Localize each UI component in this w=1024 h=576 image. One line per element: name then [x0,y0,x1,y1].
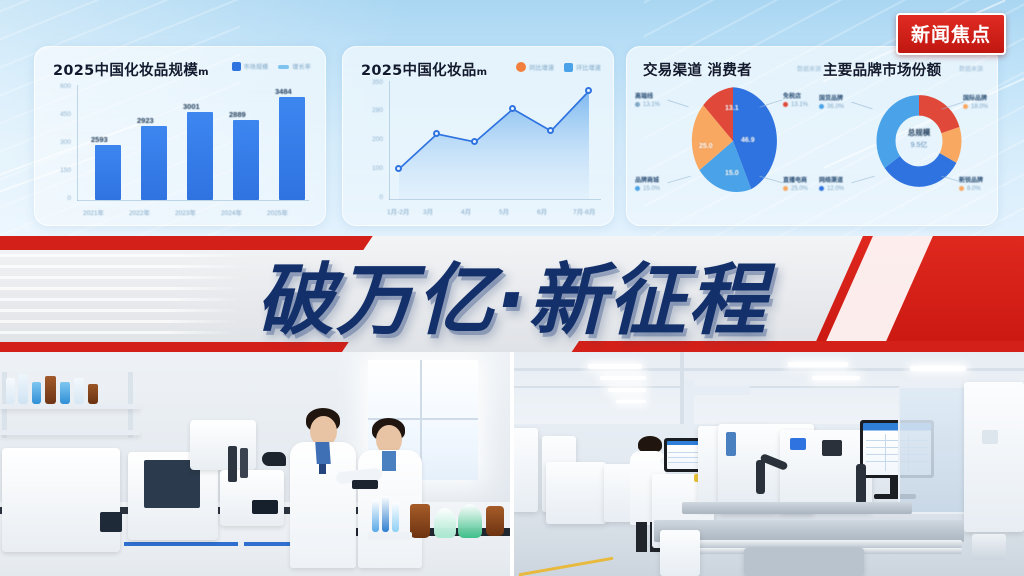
bar-2023 [187,112,213,200]
lab-bottle [45,376,56,404]
factory-bin [972,534,1006,560]
bar-chart-legend: 市场规模 增长率 [232,62,311,71]
lab-instrument-display [100,512,122,532]
conveyor-belt-upper [682,502,912,514]
donut-chart-title: 主要品牌市场份额 [823,59,941,80]
conveyor-roller-rail [664,540,962,548]
factory-photo [512,352,1024,576]
pie-chart-source-note: 数据来源 [797,64,821,73]
ceiling-light [600,376,646,380]
bar-xtick: 2022年 [129,207,150,217]
bar-chart-card: 2025中国化妆品规模m 市场规模 增长率 600 450 300 150 0 [34,46,326,226]
conveyor-belt [654,520,964,542]
line-ytick: 200 [355,136,383,143]
bar-ytick: 600 [45,83,71,90]
bar-2025 [279,97,305,200]
pie-slice-value: 13.1 [725,105,739,112]
conveyor-support [660,530,700,576]
line-yaxis-line [389,81,390,200]
line-chart-title: 2025中国化妆品m [361,59,486,80]
line-point [471,138,478,145]
donut-annotation-bottomleft: 网络渠道 12.0% [819,175,844,192]
bar-xtick: 2024年 [221,207,242,217]
bar-xtick: 2025年 [267,207,288,217]
donut-annotation-bottomright: 新锐品牌 8.0% [959,175,983,192]
ceiling-light [616,400,646,403]
bar-xaxis-line [77,200,309,201]
photo-strip [0,352,1024,576]
robot-arm [756,460,765,494]
bar-yaxis-line [77,85,78,201]
lab-bottle [18,374,28,404]
factory-duct [684,386,750,395]
machine-accent [726,432,736,456]
operator-monitor-screen [667,441,701,469]
erlenmeyer-flask [434,508,456,538]
test-tube [382,496,389,532]
line-ytick: 350 [355,79,383,86]
lab-shelf-upper [0,404,140,409]
machine-badge [790,438,806,450]
bar-value-label: 2923 [137,116,154,125]
ceiling-light [788,362,848,367]
pie-annotation-bottomright: 直播电商 25.0% [783,175,808,192]
scientist-shirt [315,442,331,464]
factory-cabinet [512,428,538,512]
legend-swatch-icon [564,63,573,72]
pie-annotation-topleft: 高端线 13.1% [635,91,660,108]
bar-ytick: 450 [45,111,71,118]
lab-bottle [60,382,70,404]
lab-bottle [88,384,98,404]
news-graphic-stage: 新闻焦点 2025中国化妆品规模m 市场规模 增长率 600 450 300 1… [0,0,1024,576]
scientist-shirt [382,451,396,471]
legend-swatch-icon [278,65,289,69]
line-chart-svg [391,81,597,199]
bar-xtick: 2023年 [175,207,196,217]
bench-accent [124,542,238,546]
bar-value-label: 2593 [91,135,108,144]
pie-chart-title: 交易渠道 消费者 [643,59,752,80]
lab-bottle [32,382,41,404]
line-area-fill [399,91,589,199]
bar-ytick: 0 [45,195,71,202]
line-xtick: 5月 [499,206,509,216]
robot-arm [856,464,866,504]
microscope-column [240,448,248,478]
line-point [509,105,516,112]
line-chart-legend: 同比增速 环比增速 [516,62,601,72]
pie-annotation-topright: 免税店 13.1% [783,91,808,108]
lab-instrument-panel [252,500,278,514]
legend-item-line: 增长率 [278,62,311,71]
bar-ytick: 150 [45,167,71,174]
line-xtick: 3月 [423,206,433,216]
factory-bench [546,462,606,524]
pie-svg [685,85,781,197]
bar-2024 [233,120,259,200]
line-point [433,130,440,137]
donut-center-label: 总规模 9.5亿 [869,127,969,150]
bar-value-label: 3484 [275,87,292,96]
factory-glass-cabinet [898,386,968,514]
pie-slice-value: 15.0 [725,170,739,177]
pie-slice-value: 46.9 [741,137,755,144]
line-point [585,87,592,94]
microscope-column [228,446,237,482]
amber-bottle [410,504,430,538]
page-title: 破万亿·新征程 [0,238,1024,350]
line-plot-area [391,81,597,193]
bar-xtick: 2021年 [83,207,104,217]
wall-panel [982,430,998,444]
lab-shelf-lower [0,430,140,435]
lab-instrument-analyzer [2,448,120,552]
donut-chart-source-note: 数据来源 [959,64,983,73]
legend-dot-icon [516,62,526,72]
lab-bottle [74,378,84,404]
line-ytick: 0 [355,194,383,201]
legend-item-yoy: 同比增速 [516,62,554,72]
line-xtick: 4月 [461,206,471,216]
lab-bottle [6,378,15,404]
bar-2022 [141,126,167,200]
amber-bottle [486,506,504,536]
donut-annotation-topleft: 国货品牌 36.0% [819,93,844,110]
line-point [547,127,554,134]
bar-ytick: 300 [45,139,71,146]
ceiling-light [588,364,642,369]
line-chart-card: 2025中国化妆品m 同比增速 环比增速 350 280 200 100 0 [342,46,614,226]
ceiling-light [812,376,860,380]
photo-divider [510,352,514,576]
scientist-left [290,408,360,568]
ceiling-light [910,366,966,371]
line-xtick: 7月-8月 [573,206,595,216]
lab-photo [0,352,512,576]
pie-slice-value: 25.0 [699,143,713,150]
share-charts-card: 交易渠道 消费者 数据来源 46.9 15.0 25.0 13.1 高端线 13… [626,46,998,226]
factory-cabinet-right [964,382,1024,532]
ceiling-light [608,388,646,392]
bar-value-label: 3001 [183,102,200,111]
scientist-right [358,418,428,568]
line-ytick: 100 [355,165,383,172]
pie-chart: 46.9 15.0 25.0 13.1 [685,85,781,197]
tube-rack [368,532,412,540]
conveyor-base [744,548,864,576]
legend-item-mom: 环比增速 [564,63,601,72]
bar-2021 [95,145,121,200]
microscope-head [262,452,286,466]
legend-item-bar: 市场规模 [232,62,269,71]
test-tube [392,502,399,532]
machine-panel [822,440,842,456]
donut-annotation-topright: 国际品牌 18.0% [963,93,988,110]
line-xtick: 1月-2月 [387,206,409,216]
bar-chart-title: 2025中国化妆品规模m [53,59,208,80]
pie-annotation-bottomleft: 品牌商城 15.0% [635,175,660,192]
test-tube [372,500,379,532]
headline-banner: 破万亿·新征程 [0,236,1024,356]
worker-leg [636,522,647,552]
legend-swatch-icon [232,62,241,71]
bar-value-label: 2889 [229,110,246,119]
lab-sample-tray [352,480,378,489]
line-xaxis-line [389,199,601,200]
line-point [395,165,402,172]
line-ytick: 280 [355,107,383,114]
erlenmeyer-flask [458,504,482,538]
line-xtick: 6月 [537,206,547,216]
news-focus-badge: 新闻焦点 [896,13,1006,55]
